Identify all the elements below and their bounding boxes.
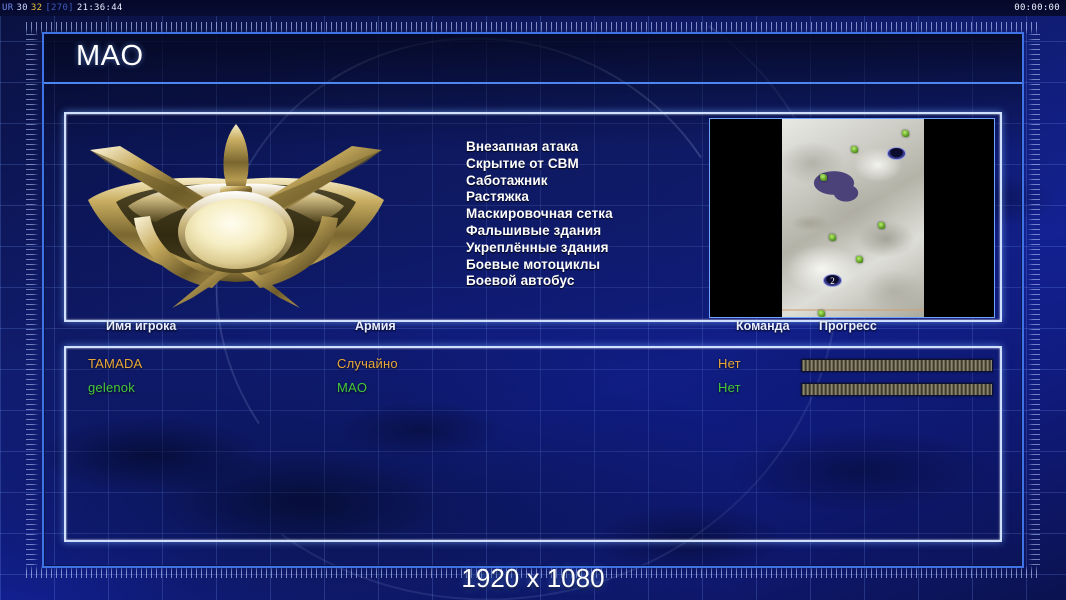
page-title: MAO xyxy=(76,40,144,73)
system-stat-token: UR xyxy=(2,3,13,13)
ruler-left xyxy=(26,34,38,566)
player-team: Нет xyxy=(718,380,741,395)
player-table-headers: Имя игрока Армия Команда Прогресс xyxy=(64,319,1002,343)
system-stats: UR3032[270]21:36:44 xyxy=(2,0,126,16)
faction-emblem xyxy=(76,122,396,317)
column-header-team: Команда xyxy=(736,319,790,333)
player-list-panel: TAMADAСлучайноНетgelenokMAOНет xyxy=(64,346,1002,542)
map-image: 2 xyxy=(782,119,924,318)
player-name: TAMADA xyxy=(88,356,142,371)
player-team: Нет xyxy=(718,356,741,371)
system-stat-token: 21:36:44 xyxy=(77,3,123,13)
game-lobby-window: MAO xyxy=(42,32,1024,568)
player-name: gelenok xyxy=(88,380,135,395)
map-bottom-strip xyxy=(782,309,924,311)
ability-item-2: Саботажник xyxy=(466,173,613,190)
map-marker-4 xyxy=(829,234,836,241)
ability-item-4: Маскировочная сетка xyxy=(466,206,613,223)
ability-item-1: Скрытие от СВМ xyxy=(466,156,613,173)
player-progress-bar xyxy=(801,383,993,396)
map-marker-6 xyxy=(818,310,825,317)
window-titlebar: MAO xyxy=(44,34,1022,84)
ability-item-0: Внезапная атака xyxy=(466,139,613,156)
ability-item-3: Растяжка xyxy=(466,189,613,206)
map-marker-1 xyxy=(851,146,858,153)
map-marker-2 xyxy=(820,174,827,181)
map-spawn-point-0[interactable] xyxy=(887,147,906,160)
ability-item-5: Фальшивые здания xyxy=(466,223,613,240)
column-header-army: Армия xyxy=(355,319,396,333)
map-marker-0 xyxy=(902,130,909,137)
ability-item-6: Укреплённые здания xyxy=(466,240,613,257)
system-status-bar: UR3032[270]21:36:44 00:00:00 xyxy=(0,0,1066,16)
map-spawn-point-1[interactable]: 2 xyxy=(823,274,842,287)
system-stat-token: 30 xyxy=(16,3,27,13)
map-preview[interactable]: 2 xyxy=(709,118,995,318)
resolution-overlay: 1920 x 1080 xyxy=(0,563,1066,594)
ability-item-7: Боевые мотоциклы xyxy=(466,257,613,274)
column-header-player-name: Имя игрока xyxy=(106,319,176,333)
faction-info-panel: Внезапная атакаСкрытие от СВМСаботажникР… xyxy=(64,112,1002,322)
system-stat-token: [270] xyxy=(45,3,74,13)
player-progress-bar xyxy=(801,359,993,372)
gla-emblem-icon xyxy=(76,122,396,317)
system-stat-token: 32 xyxy=(31,3,42,13)
ability-item-8: Боевой автобус xyxy=(466,273,613,290)
session-timer: 00:00:00 xyxy=(1014,0,1060,16)
table-row[interactable]: TAMADAСлучайноНет xyxy=(66,356,1000,380)
faction-ability-list: Внезапная атакаСкрытие от СВМСаботажникР… xyxy=(466,139,613,290)
map-marker-3 xyxy=(878,222,885,229)
player-army: Случайно xyxy=(337,356,398,371)
table-row[interactable]: gelenokMAOНет xyxy=(66,380,1000,404)
ruler-right xyxy=(1028,34,1040,566)
map-marker-5 xyxy=(856,256,863,263)
column-header-progress: Прогресс xyxy=(819,319,877,333)
player-army: MAO xyxy=(337,380,367,395)
